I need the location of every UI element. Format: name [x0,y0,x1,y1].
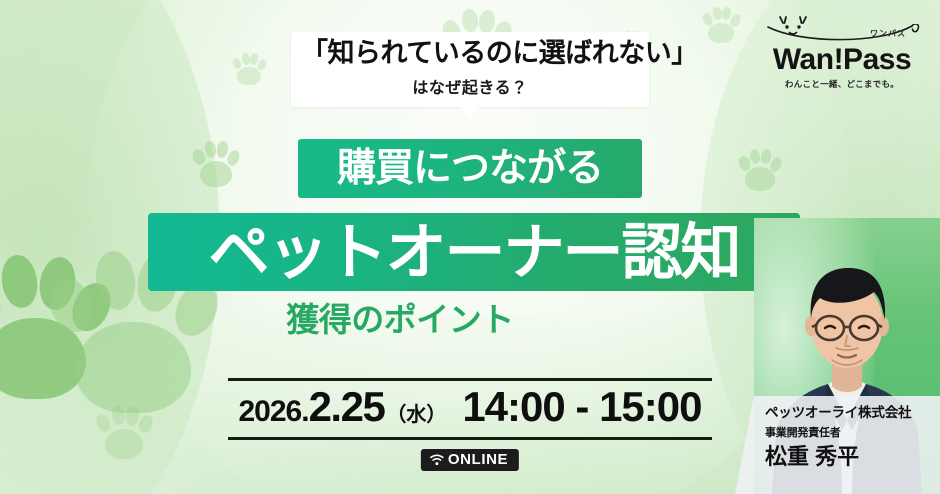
logo-kana: ワンパス [870,28,906,39]
headline-subhead: 獲得のポイント [0,303,800,336]
logo-tagline: わんこと一緒、どこまでも。 [762,78,922,90]
paw-print-icon [702,6,740,44]
speaker-name: 松重 秀平 [765,445,928,469]
schedule-time: 14:00 - 15:00 [462,383,701,431]
headline-band-small-text: 購買につながる [337,149,603,188]
brand-logo[interactable]: ワンパス Wan!Pass わんこと一緒、どこまでも。 [762,14,922,90]
divider-top [228,378,712,381]
paw-print-icon [232,52,266,86]
logo-wordmark: Wan!Pass [762,45,922,75]
headline-band-large-text: ペットオーナー認知 [208,222,739,283]
paw-print-icon [192,140,240,188]
bubble-tail-icon [459,106,481,120]
headline-band-small: 購買につながる [298,139,642,198]
schedule-date: 2.25 [309,383,385,431]
logo-mark: ワンパス [762,14,922,44]
status-badge-online: ONLINE [421,449,519,471]
speaker-info-panel: ペッツオーライ株式会社 事業開発責任者 松重 秀平 [735,396,940,494]
dog-face-icon [776,14,810,40]
schedule-weekday: （水） [386,398,446,427]
speaker-role: 事業開発責任者 [765,424,928,440]
schedule-year: 2026. [239,395,309,429]
divider-bottom [228,437,712,440]
bubble-headline: 「知られているのに選ばれない」 [301,39,639,69]
wifi-icon [430,454,444,466]
status-badge-label: ONLINE [448,452,508,467]
speech-bubble: 「知られているのに選ばれない」 はなぜ起きる？ [291,32,649,107]
speaker-company: ペッツオーライ株式会社 [765,406,928,421]
paw-print-icon [96,404,152,460]
paw-print-icon [738,148,782,192]
schedule-line: 2026. 2.25 （水） 14:00 - 15:00 [228,383,712,435]
headline-band-large: ペットオーナー認知 [148,213,800,291]
webinar-poster: ワンパス Wan!Pass わんこと一緒、どこまでも。 「知られているのに選ばれ… [0,0,940,494]
bubble-subline: はなぜ起きる？ [301,74,639,98]
